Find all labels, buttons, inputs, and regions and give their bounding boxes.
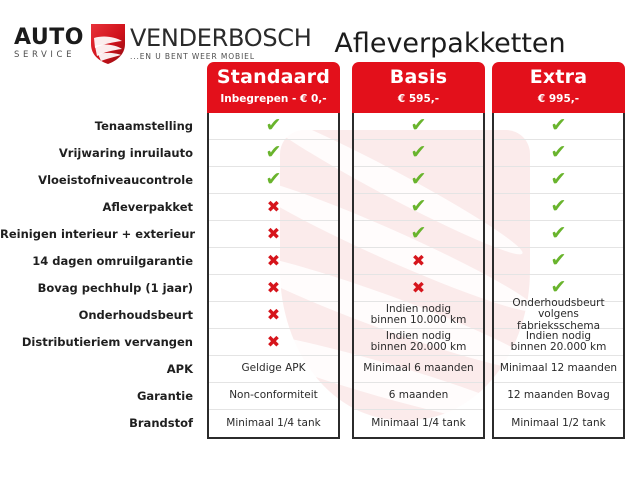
table-cell: ✔ [354, 221, 483, 248]
table-cell: Indien nodigbinnen 10.000 km [354, 302, 483, 329]
check-icon: ✔ [551, 224, 567, 243]
table-cell: Non-conformiteit [209, 383, 338, 410]
cross-icon: ✖ [267, 307, 280, 323]
cross-icon: ✖ [412, 253, 425, 269]
package-price-basis: € 595,- [352, 91, 485, 107]
package-comparison-table: TenaamstellingVrijwaring inruilautoVloei… [0, 62, 640, 462]
page-header: AUTO SERVICE VENDERBOSCH ...EN [0, 0, 640, 62]
cell-text: Indien nodigbinnen 20.000 km [511, 331, 607, 354]
table-cell: 6 maanden [354, 383, 483, 410]
cell-text-line-2: volgens fabrieksschema [496, 309, 621, 332]
table-cell: ✔ [494, 167, 623, 194]
table-cell: ✔ [354, 194, 483, 221]
table-cell: Onderhoudsbeurtvolgens fabrieksschema [494, 302, 623, 329]
table-cell: ✖ [209, 302, 338, 329]
cell-text: Minimaal 12 maanden [500, 363, 617, 375]
page-title: Afleverpakketten [300, 28, 600, 59]
cell-text: Indien nodigbinnen 20.000 km [371, 331, 467, 354]
package-column-basis[interactable]: Basis € 595,- ✔✔✔✔✔✖✖Indien nodigbinnen … [352, 62, 485, 439]
table-cell: ✖ [209, 248, 338, 275]
cross-icon: ✖ [267, 199, 280, 215]
table-cell: ✔ [209, 167, 338, 194]
feature-label: Afleverpakket [0, 194, 200, 221]
cell-text-line-1: 6 maanden [389, 390, 449, 402]
cell-text: Minimaal 1/2 tank [511, 418, 605, 430]
cell-text-line-1: Minimaal 1/4 tank [371, 418, 465, 430]
check-icon: ✔ [266, 143, 282, 162]
package-header-extra: Extra € 995,- [492, 62, 625, 113]
table-cell: Minimaal 1/4 tank [209, 410, 338, 437]
cell-text: 12 maanden Bovag [507, 390, 610, 402]
feature-label: Vrijwaring inruilauto [0, 140, 200, 167]
cross-icon: ✖ [267, 280, 280, 296]
cell-text-line-1: Minimaal 1/4 tank [226, 418, 320, 430]
brand-tagline: ...EN U BENT WEER MOBIEL [130, 53, 312, 61]
feature-label: Garantie [0, 383, 200, 410]
package-column-extra[interactable]: Extra € 995,- ✔✔✔✔✔✔✔Onderhoudsbeurtvolg… [492, 62, 625, 439]
feature-label-column: TenaamstellingVrijwaring inruilautoVloei… [0, 62, 200, 437]
feature-label: Vloeistofniveaucontrole [0, 167, 200, 194]
table-cell: Geldige APK [209, 356, 338, 383]
feature-label: Onderhoudsbeurt [0, 302, 200, 329]
cell-text: Onderhoudsbeurtvolgens fabrieksschema [496, 298, 621, 333]
cell-text: Minimaal 6 maanden [363, 363, 473, 375]
table-cell: Minimaal 1/2 tank [494, 410, 623, 437]
feature-label: Brandstof [0, 410, 200, 437]
cross-icon: ✖ [412, 280, 425, 296]
package-price-standaard: Inbegrepen - € 0,- [207, 91, 340, 107]
cell-text-line-2: binnen 20.000 km [371, 342, 467, 354]
package-name-extra: Extra [492, 64, 625, 91]
table-cell: ✔ [494, 140, 623, 167]
package-header-basis: Basis € 595,- [352, 62, 485, 113]
brand-name: VENDERBOSCH [130, 26, 312, 50]
cross-icon: ✖ [267, 226, 280, 242]
cell-text-line-1: Minimaal 6 maanden [363, 363, 473, 375]
check-icon: ✔ [551, 143, 567, 162]
check-icon: ✔ [266, 170, 282, 189]
table-cell: Minimaal 1/4 tank [354, 410, 483, 437]
cell-text-line-2: binnen 20.000 km [511, 342, 607, 354]
table-cell: Indien nodigbinnen 20.000 km [494, 329, 623, 356]
table-cell: ✖ [209, 275, 338, 302]
cell-text-line-2: binnen 10.000 km [371, 315, 467, 327]
brand-logo-text-block: VENDERBOSCH ...EN U BENT WEER MOBIEL [130, 24, 312, 61]
cell-text-line-1: Minimaal 1/2 tank [511, 418, 605, 430]
package-cells-basis: ✔✔✔✔✔✖✖Indien nodigbinnen 10.000 kmIndie… [352, 113, 485, 439]
check-icon: ✔ [411, 224, 427, 243]
cell-text-line-1: 12 maanden Bovag [507, 390, 610, 402]
package-header-standaard: Standaard Inbegrepen - € 0,- [207, 62, 340, 113]
cell-text-line-1: Non-conformiteit [229, 390, 318, 402]
check-icon: ✔ [411, 143, 427, 162]
table-cell: ✔ [494, 221, 623, 248]
check-icon: ✔ [266, 116, 282, 135]
feature-label: Tenaamstelling [0, 113, 200, 140]
cell-text: Minimaal 1/4 tank [371, 418, 465, 430]
table-cell: ✔ [494, 113, 623, 140]
cell-text-line-1: Minimaal 12 maanden [500, 363, 617, 375]
cell-text: Geldige APK [242, 363, 306, 375]
check-icon: ✔ [551, 170, 567, 189]
table-cell: Minimaal 12 maanden [494, 356, 623, 383]
package-cells-extra: ✔✔✔✔✔✔✔Onderhoudsbeurtvolgens fabriekssc… [492, 113, 625, 439]
package-name-standaard: Standaard [207, 64, 340, 91]
check-icon: ✔ [551, 251, 567, 270]
brand-logo-auto-block: AUTO SERVICE [14, 24, 84, 60]
cross-icon: ✖ [267, 253, 280, 269]
table-cell: ✔ [354, 140, 483, 167]
feature-label: APK [0, 356, 200, 383]
table-cell: ✔ [209, 140, 338, 167]
check-icon: ✔ [551, 116, 567, 135]
package-name-basis: Basis [352, 64, 485, 91]
check-icon: ✔ [411, 197, 427, 216]
feature-label: Distributieriem vervangen [0, 329, 200, 356]
cell-text-line-1: Geldige APK [242, 363, 306, 375]
brand-logo[interactable]: AUTO SERVICE VENDERBOSCH ...EN [14, 24, 311, 66]
cell-text: Indien nodigbinnen 10.000 km [371, 304, 467, 327]
table-cell: ✔ [494, 194, 623, 221]
table-cell: ✖ [354, 275, 483, 302]
package-price-extra: € 995,- [492, 91, 625, 107]
cell-text: Minimaal 1/4 tank [226, 418, 320, 430]
table-cell: ✔ [209, 113, 338, 140]
check-icon: ✔ [551, 278, 567, 297]
table-cell: ✖ [209, 329, 338, 356]
table-cell: Indien nodigbinnen 20.000 km [354, 329, 483, 356]
table-cell: ✖ [209, 194, 338, 221]
check-icon: ✔ [411, 170, 427, 189]
feature-label: Reinigen interieur + exterieur [0, 221, 200, 248]
table-cell: Minimaal 6 maanden [354, 356, 483, 383]
check-icon: ✔ [411, 116, 427, 135]
feature-label: 14 dagen omruilgarantie [0, 248, 200, 275]
cross-icon: ✖ [267, 334, 280, 350]
table-cell: ✔ [354, 113, 483, 140]
brand-logo-auto-sub: SERVICE [14, 51, 84, 60]
brand-logo-auto-main: AUTO [14, 27, 84, 49]
table-cell: ✖ [354, 248, 483, 275]
cell-text: 6 maanden [389, 390, 449, 402]
table-cell: ✔ [494, 248, 623, 275]
check-icon: ✔ [551, 197, 567, 216]
package-column-standaard[interactable]: Standaard Inbegrepen - € 0,- ✔✔✔✖✖✖✖✖✖Ge… [207, 62, 340, 439]
table-cell: ✔ [354, 167, 483, 194]
feature-label: Bovag pechhulp (1 jaar) [0, 275, 200, 302]
table-cell: 12 maanden Bovag [494, 383, 623, 410]
table-cell: ✖ [209, 221, 338, 248]
cell-text: Non-conformiteit [229, 390, 318, 402]
package-cells-standaard: ✔✔✔✖✖✖✖✖✖Geldige APKNon-conformiteitMini… [207, 113, 340, 439]
shield-icon [88, 22, 128, 66]
